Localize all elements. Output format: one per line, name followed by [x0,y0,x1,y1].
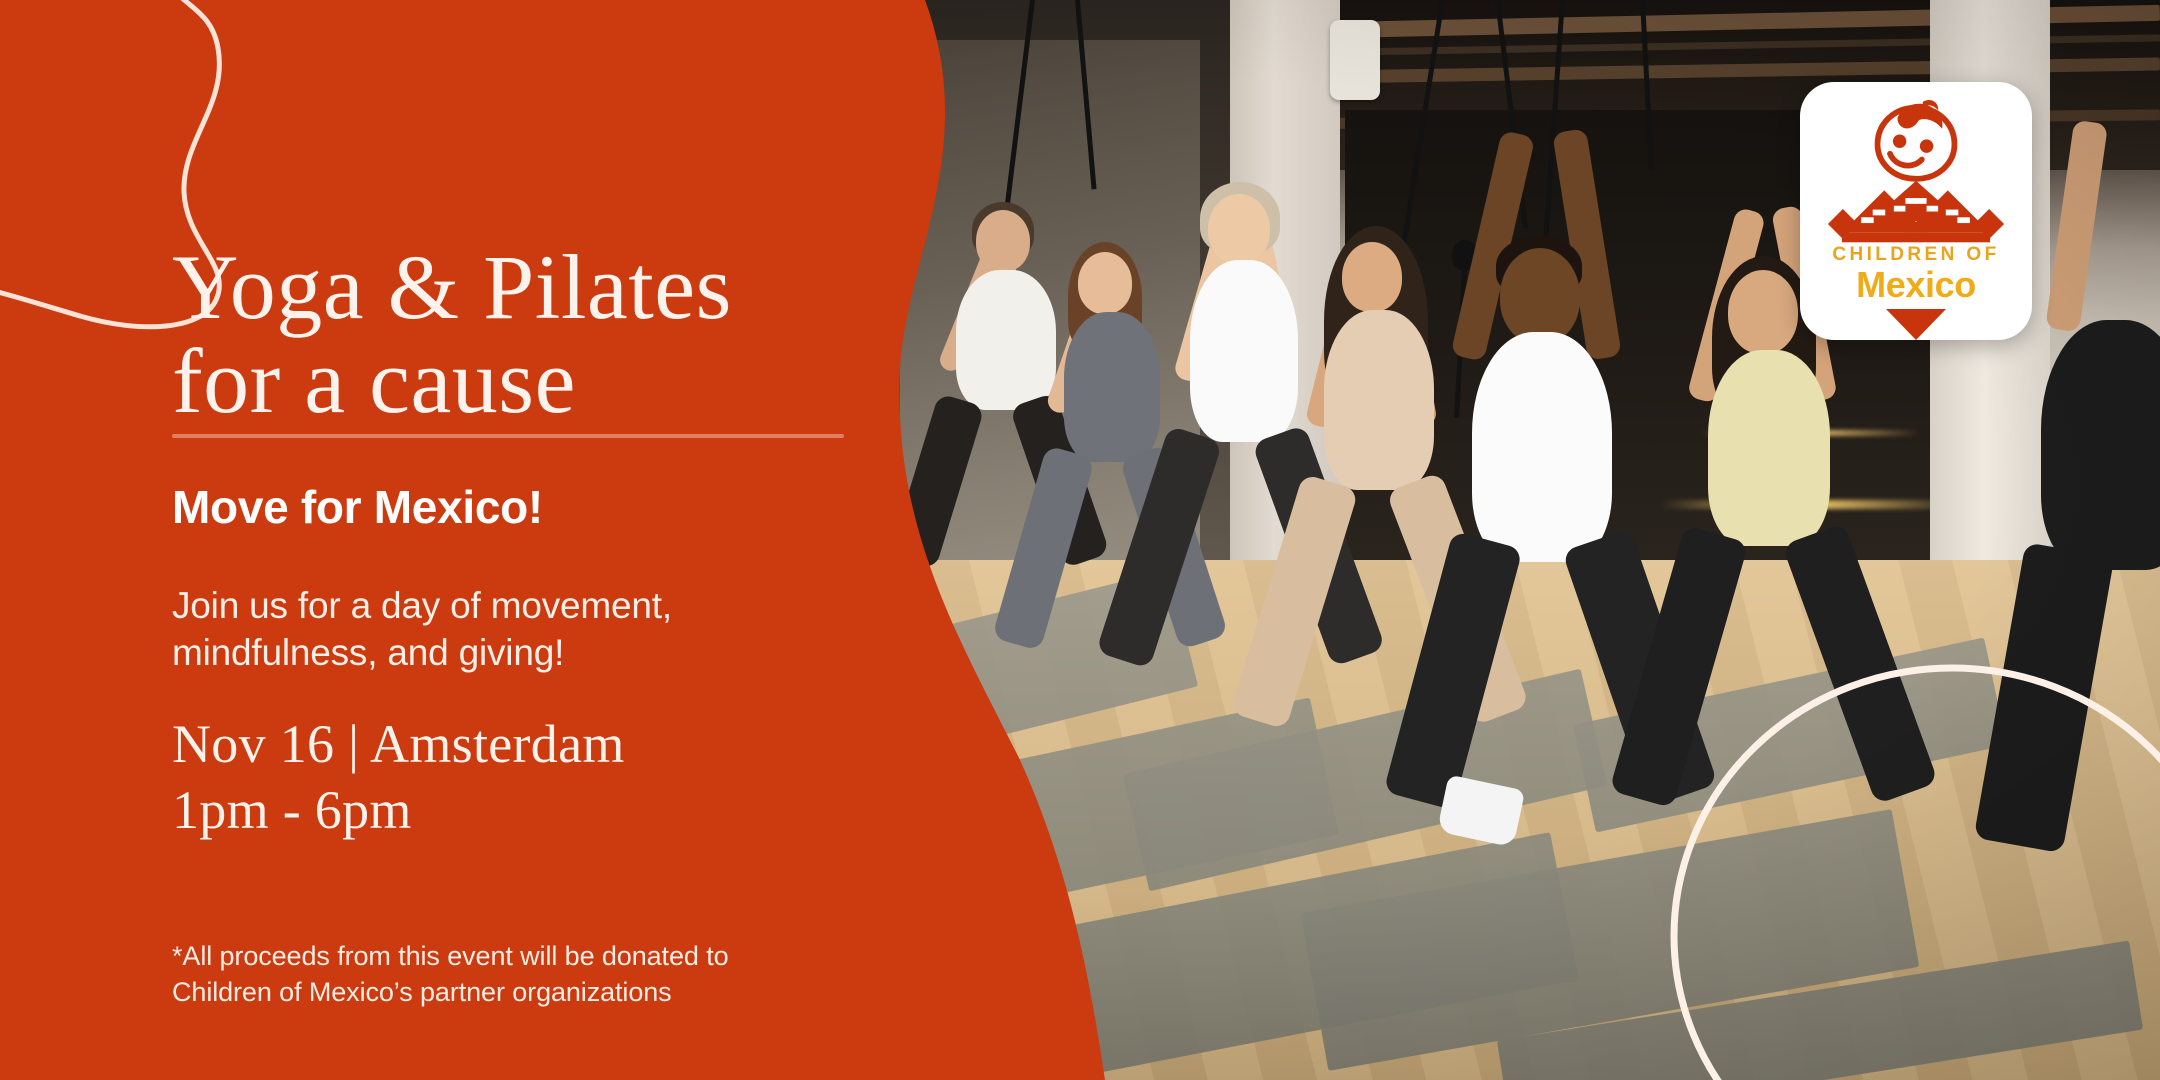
event-details: Nov 16 | Amsterdam 1pm - 6pm [172,712,832,844]
logo-triangle-icon [1886,309,1946,340]
headline-line-1: Yoga & Pilates [172,236,732,338]
speaker [1330,20,1380,100]
event-date-location: Nov 16 | Amsterdam [172,714,625,774]
logo-mark-icon [1823,98,2009,250]
event-banner: Yoga & Pilates for a cause Move for Mexi… [0,0,2160,1080]
disclaimer-text: *All proceeds from this event will be do… [172,939,812,1011]
logo-text-line-2: Mexico [1856,267,1976,303]
page-title: Yoga & Pilates for a cause [172,240,872,430]
lede-text: Join us for a day of movement, mindfulne… [172,582,812,677]
lede-line-1: Join us for a day of movement, [172,585,672,626]
banner-content: Yoga & Pilates for a cause Move for Mexi… [0,0,900,1080]
children-of-mexico-logo: CHILDREN OF Mexico [1800,82,2032,340]
headline-line-2: for a cause [172,334,872,429]
event-time: 1pm - 6pm [172,778,832,844]
kicker-text: Move for Mexico! [172,480,543,534]
disclaimer-line-2: Children of Mexico’s partner organizatio… [172,977,672,1007]
disclaimer-line-1: *All proceeds from this event will be do… [172,941,729,971]
title-divider [172,434,844,438]
lede-line-2: mindfulness, and giving! [172,632,564,673]
logo-text-line-1: CHILDREN OF [1832,244,1999,266]
